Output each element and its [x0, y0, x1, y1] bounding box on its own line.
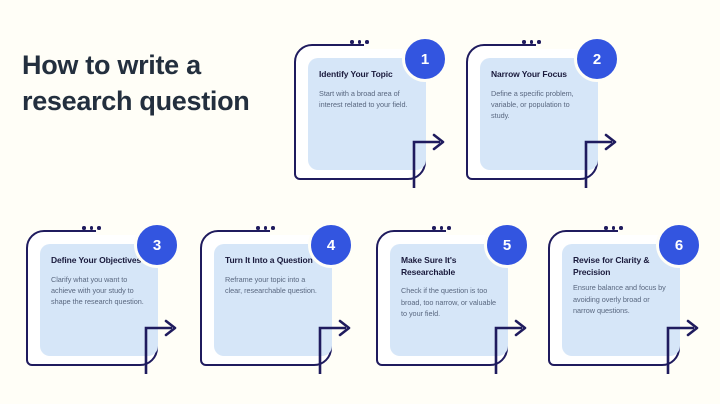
- step-heading: Turn It Into a Question: [225, 255, 321, 267]
- three-dots-icon: [522, 40, 541, 44]
- step-heading: Make Sure It's Researchable: [401, 255, 497, 278]
- step-body: Ensure balance and focus by avoiding ove…: [573, 282, 669, 316]
- step-heading: Identify Your Topic: [319, 69, 415, 81]
- three-dots-icon: [432, 226, 451, 230]
- corner-arrow-right-icon: [494, 286, 538, 376]
- step-number-badge: 4: [308, 222, 354, 268]
- corner-arrow-right-icon: [584, 100, 628, 190]
- corner-arrow-right-icon: [666, 286, 710, 376]
- step-body: Define a specific problem, variable, or …: [491, 88, 587, 122]
- three-dots-icon: [604, 226, 623, 230]
- step-card-1[interactable]: Identify Your Topic Start with a broad a…: [294, 36, 454, 186]
- three-dots-icon: [256, 226, 275, 230]
- step-number-badge: 1: [402, 36, 448, 82]
- step-number-badge: 6: [656, 222, 702, 268]
- step-card-2[interactable]: Narrow Your Focus Define a specific prob…: [466, 36, 626, 186]
- step-card-3[interactable]: Define Your Objectives Clarify what you …: [26, 222, 186, 372]
- step-body: Reframe your topic into a clear, researc…: [225, 274, 321, 297]
- step-body: Clarify what you want to achieve with yo…: [51, 274, 147, 308]
- step-heading: Revise for Clarity & Precision: [573, 255, 669, 278]
- step-number-badge: 3: [134, 222, 180, 268]
- step-heading: Narrow Your Focus: [491, 69, 587, 81]
- three-dots-icon: [82, 226, 101, 230]
- step-card-4[interactable]: Turn It Into a Question Reframe your top…: [200, 222, 360, 372]
- corner-arrow-right-icon: [144, 286, 188, 376]
- step-heading: Define Your Objectives: [51, 255, 147, 267]
- step-card-5[interactable]: Make Sure It's Researchable Check if the…: [376, 222, 536, 372]
- step-card-6[interactable]: Revise for Clarity & Precision Ensure ba…: [548, 222, 708, 372]
- corner-arrow-right-icon: [318, 286, 362, 376]
- step-number-badge: 5: [484, 222, 530, 268]
- page-title: How to write a research question: [22, 48, 272, 120]
- step-number-badge: 2: [574, 36, 620, 82]
- corner-arrow-right-icon: [412, 100, 456, 190]
- infographic-canvas: How to write a research question Identif…: [0, 0, 720, 404]
- step-body: Start with a broad area of interest rela…: [319, 88, 415, 111]
- three-dots-icon: [350, 40, 369, 44]
- step-body: Check if the question is too broad, too …: [401, 285, 497, 319]
